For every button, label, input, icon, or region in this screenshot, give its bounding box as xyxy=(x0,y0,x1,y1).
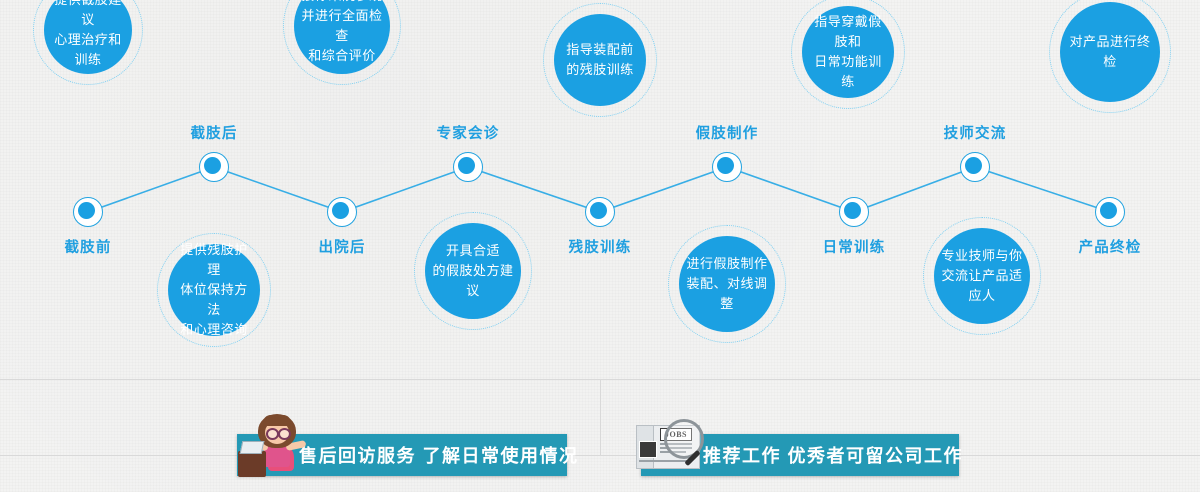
bubble-text: 对产品进行终检 xyxy=(1060,32,1160,72)
bubble-text: 开具合适 的假肢处方建议 xyxy=(425,241,521,301)
bubble-line: 体位保持方法 xyxy=(174,280,254,320)
woman-at-desk-icon xyxy=(238,411,320,477)
fringe-shape xyxy=(263,415,291,426)
newspaper-textline xyxy=(639,460,691,462)
bubble-line: 专业技师与你 xyxy=(940,246,1024,266)
glasses-right-icon xyxy=(278,428,291,440)
bubble-line: 日常功能训练 xyxy=(808,52,888,92)
bubble-text: 进行假肢制作 装配、对线调整 xyxy=(679,254,775,314)
bubble-line: 接你来院参观 xyxy=(300,0,384,6)
node-label-pre-amputation: 截肢前 xyxy=(64,236,111,257)
diagram-canvas: 截肢前 截肢后 出院后 专家会诊 残肢训练 假肢制作 日常训练 技师交流 产品终… xyxy=(0,0,1200,492)
desk-shape xyxy=(238,451,266,477)
bubble-text: 专业技师与你 交流让产品适应人 xyxy=(934,246,1030,306)
node-expert-consult[interactable] xyxy=(453,152,483,182)
newspaper-photo-shape xyxy=(639,441,657,458)
jobs-magnifier-icon: JOBS xyxy=(630,415,720,477)
bubble-text: 提供截肢建议 心理治疗和训练 xyxy=(44,0,132,70)
bubble-line: 并进行全面检查 xyxy=(300,6,384,46)
node-label-stump-training: 残肢训练 xyxy=(569,236,632,257)
bubble-stump-training[interactable]: 指导装配前 的残肢训练 xyxy=(554,14,646,106)
bubble-daily-training[interactable]: 指导穿戴假肢和 日常功能训练 xyxy=(802,6,894,98)
node-label-post-amputation: 截肢后 xyxy=(190,122,237,143)
node-label-post-discharge: 出院后 xyxy=(318,236,365,257)
bubble-text: 指导装配前 的残肢训练 xyxy=(560,40,640,80)
bubble-line: 进行假肢制作 xyxy=(685,254,769,274)
bubble-pre-amputation[interactable]: 提供截肢建议 心理治疗和训练 xyxy=(44,0,132,74)
bubble-line: 对产品进行终检 xyxy=(1066,32,1154,72)
divider-horizontal-bottom xyxy=(0,455,1200,456)
bubble-line: 心理治疗和训练 xyxy=(50,30,126,70)
node-label-prosthesis-make: 假肢制作 xyxy=(696,122,759,143)
bubble-text: 指导穿戴假肢和 日常功能训练 xyxy=(802,12,894,93)
node-post-discharge[interactable] xyxy=(327,197,357,227)
node-pre-amputation[interactable] xyxy=(73,197,103,227)
node-label-daily-training: 日常训练 xyxy=(823,236,886,257)
banner-text: 售后回访服务 了解日常使用情况 xyxy=(299,442,579,468)
bubble-post-discharge[interactable]: 接你来院参观 并进行全面检查 和综合评价 xyxy=(294,0,390,74)
bubble-line: 的残肢训练 xyxy=(566,60,634,80)
node-label-final-check: 产品终检 xyxy=(1079,236,1142,257)
bubble-line: 指导穿戴假肢和 xyxy=(808,12,888,52)
bubble-prosthesis-make[interactable]: 进行假肢制作 装配、对线调整 xyxy=(679,236,775,332)
node-stump-training[interactable] xyxy=(585,197,615,227)
bubble-line: 交流让产品适应人 xyxy=(940,266,1024,306)
bubble-post-amputation[interactable]: 提供残肢护理 体位保持方法 和心理咨询 xyxy=(168,244,260,336)
node-post-amputation[interactable] xyxy=(199,152,229,182)
bubble-line: 指导装配前 xyxy=(566,40,634,60)
bubble-line: 的假肢处方建议 xyxy=(431,261,515,301)
bubble-line: 和综合评价 xyxy=(300,46,384,66)
node-tech-exchange[interactable] xyxy=(960,152,990,182)
laptop-icon xyxy=(240,441,265,454)
bubble-text: 提供残肢护理 体位保持方法 和心理咨询 xyxy=(168,240,260,341)
bubble-line: 提供截肢建议 xyxy=(50,0,126,30)
node-label-tech-exchange: 技师交流 xyxy=(944,122,1007,143)
bubble-final-check[interactable]: 对产品进行终检 xyxy=(1060,2,1160,102)
bubble-text: 接你来院参观 并进行全面检查 和综合评价 xyxy=(294,0,390,66)
bubble-line: 装配、对线调整 xyxy=(685,274,769,314)
bubble-expert-consult[interactable]: 开具合适 的假肢处方建议 xyxy=(425,223,521,319)
node-final-check[interactable] xyxy=(1095,197,1125,227)
node-label-expert-consult: 专家会诊 xyxy=(437,122,500,143)
node-prosthesis-make[interactable] xyxy=(712,152,742,182)
banner-text: 推荐工作 优秀者可留公司工作 xyxy=(703,442,963,468)
bubble-line: 提供残肢护理 xyxy=(174,240,254,280)
node-daily-training[interactable] xyxy=(839,197,869,227)
bubble-tech-exchange[interactable]: 专业技师与你 交流让产品适应人 xyxy=(934,228,1030,324)
bubble-line: 和心理咨询 xyxy=(174,320,254,340)
bubble-line: 开具合适 xyxy=(431,241,515,261)
